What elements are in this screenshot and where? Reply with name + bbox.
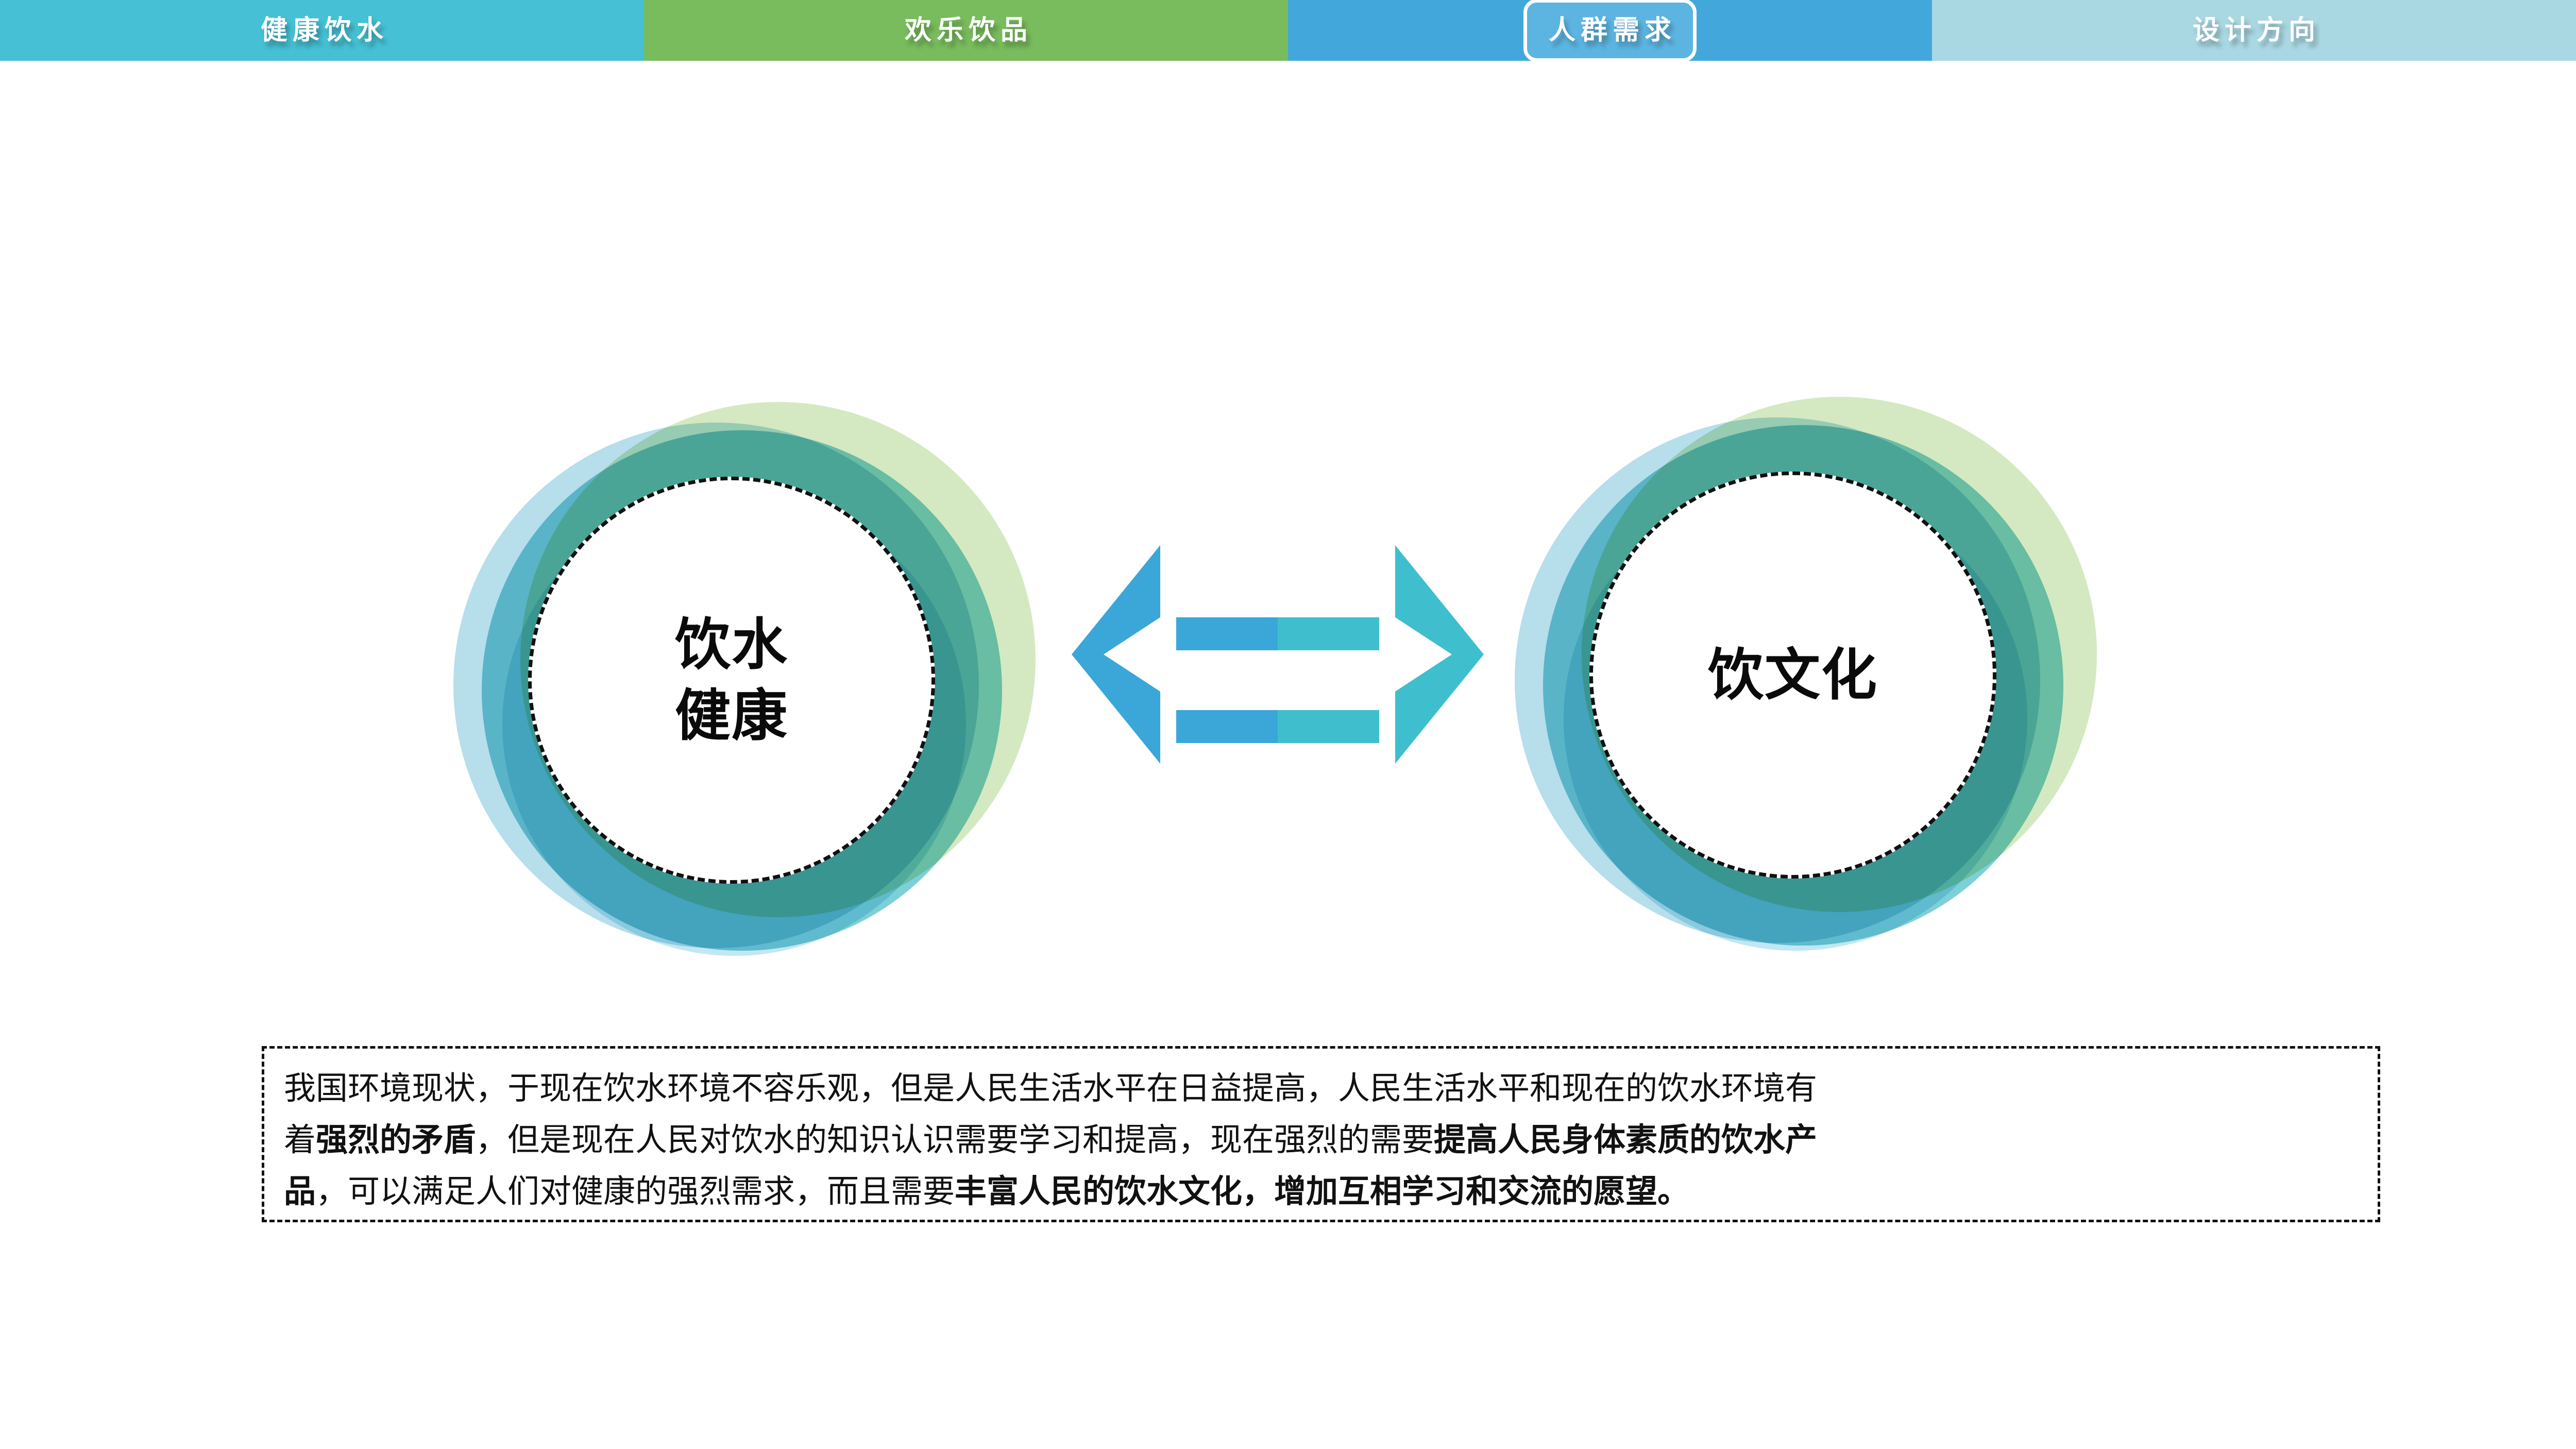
left-circle-diagram: 饮水 健康 — [453, 402, 1010, 958]
nav-label: 欢乐饮品 — [900, 17, 1032, 44]
left-circle-label-line2: 健康 — [675, 680, 788, 751]
nav-item-design-direction[interactable]: 设计方向 — [1932, 0, 2576, 61]
description-line-2: 着强烈的矛盾，但是现在人民对饮水的知识认识需要学习和提高，现在强烈的需要提高人民… — [284, 1115, 2358, 1166]
nav-item-health-drinking-water[interactable]: 健康饮水 — [0, 0, 644, 61]
double-arrow-svg — [1072, 526, 1484, 783]
arrow-left-chevron — [1072, 545, 1160, 764]
arrow-bottom-bar-left — [1176, 710, 1278, 743]
arrow-top-bar-left — [1176, 617, 1278, 650]
arrow-right-chevron — [1395, 545, 1484, 764]
double-arrow-icon — [1072, 526, 1484, 783]
nav-item-crowd-demand[interactable]: 人群需求 — [1288, 0, 1932, 61]
right-circle-inner: 饮文化 — [1589, 471, 1996, 879]
description-line-1: 我国环境现状，于现在饮水环境不容乐观，但是人民生活水平在日益提高，人民生活水平和… — [284, 1063, 2358, 1115]
description-line-3: 品，可以满足人们对健康的强烈需求，而且需要丰富人民的饮水文化，增加互相学习和交流… — [284, 1166, 2358, 1218]
slide-canvas: 健康饮水 欢乐饮品 人群需求 设计方向 饮水 健康 — [0, 0, 2576, 1449]
nav-label: 设计方向 — [2188, 17, 2320, 44]
nav-item-happy-drinks[interactable]: 欢乐饮品 — [644, 0, 1288, 61]
left-circle-inner: 饮水 健康 — [528, 477, 935, 884]
arrow-top-bar-right — [1278, 617, 1379, 650]
top-navigation-bar: 健康饮水 欢乐饮品 人群需求 设计方向 — [0, 0, 2576, 61]
left-circle-label-line1: 饮水 — [675, 609, 788, 680]
nav-label: 健康饮水 — [256, 17, 388, 44]
nav-label: 人群需求 — [1544, 17, 1676, 44]
right-circle-diagram: 饮文化 — [1515, 397, 2071, 953]
arrow-bottom-bar-right — [1278, 710, 1379, 743]
description-textbox: 我国环境现状，于现在饮水环境不容乐观，但是人民生活水平在日益提高，人民生活水平和… — [262, 1046, 2380, 1222]
right-circle-label-line1: 饮文化 — [1708, 639, 1878, 711]
